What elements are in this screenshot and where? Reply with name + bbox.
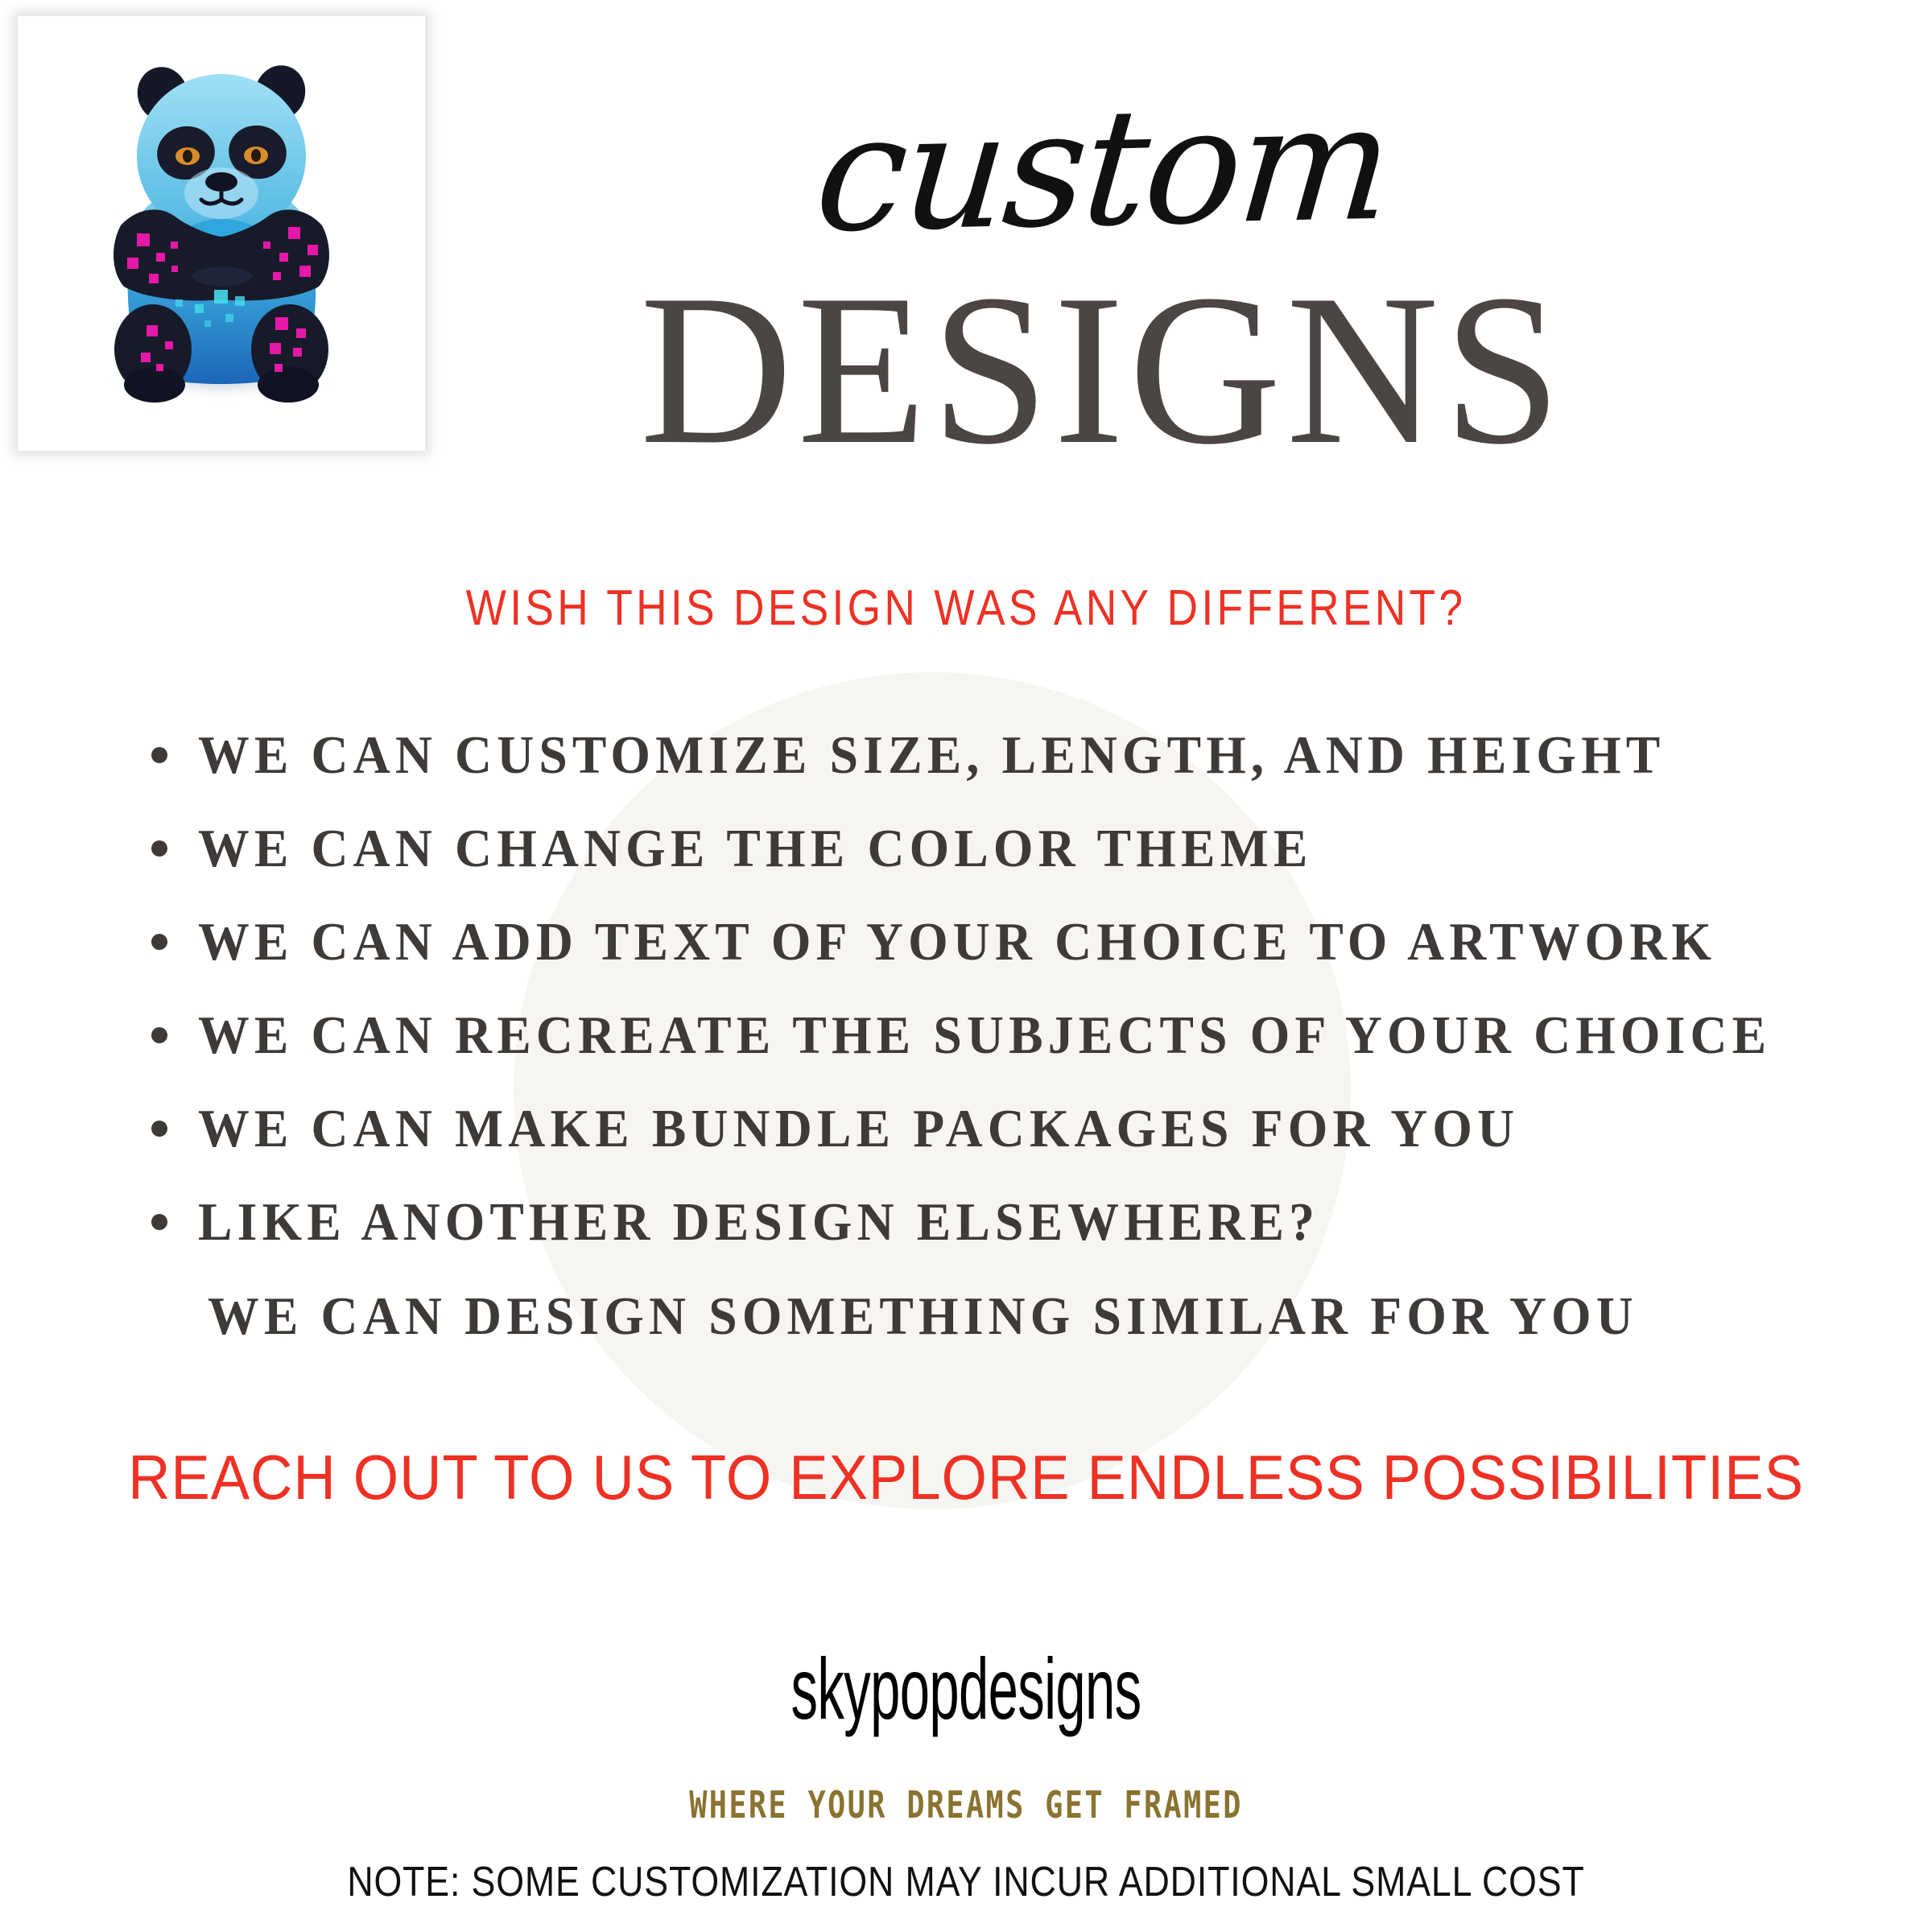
customization-options-list: WE CAN CUSTOMIZE SIZE, LENGTH, AND HEIGH… [151,708,1842,1269]
list-item: WE CAN CUSTOMIZE SIZE, LENGTH, AND HEIGH… [151,708,1842,802]
brand-tagline: WHERE YOUR DREAMS GET FRAMED [193,1783,1739,1827]
list-item-continuation-label: WE CAN DESIGN SOMETHING SIMILAR FOR YOU [208,1286,1638,1348]
script-word-custom: custom [412,74,1794,264]
bullet-dot-icon [151,1121,167,1137]
bullet-dot-icon [151,1027,167,1043]
page-title-designs: DESIGNS [432,267,1773,473]
brand-logo-text: skypopdesigns [367,1638,1565,1739]
footer-note: NOTE: SOME CUSTOMIZATION MAY INCUR ADDIT… [135,1858,1797,1906]
subtitle-question: WISH THIS DESIGN WAS ANY DIFFERENT? [135,580,1797,637]
bullet-dot-icon [151,934,167,950]
list-item: WE CAN MAKE BUNDLE PACKAGES FOR YOU [151,1082,1842,1175]
list-item: LIKE ANOTHER DESIGN ELSEWHERE? [151,1175,1842,1269]
panda-illustration-icon [34,34,409,433]
list-item-label: WE CAN ADD TEXT OF YOUR CHOICE TO ARTWOR… [198,911,1716,973]
list-item-label: WE CAN MAKE BUNDLE PACKAGES FOR YOU [198,1098,1519,1160]
bullet-dot-icon [151,1214,167,1230]
call-to-action-text: REACH OUT TO US TO EXPLORE ENDLESS POSSI… [68,1441,1864,1514]
list-item: WE CAN CHANGE THE COLOR THEME [151,802,1842,895]
bullet-dot-icon [151,840,167,857]
artwork-image [34,34,409,433]
list-item: WE CAN RECREATE THE SUBJECTS OF YOUR CHO… [151,989,1842,1082]
list-item: WE CAN ADD TEXT OF YOUR CHOICE TO ARTWOR… [151,895,1842,989]
list-item-label: WE CAN CHANGE THE COLOR THEME [198,818,1312,880]
headline-block: custom DESIGNS [419,89,1787,473]
artwork-frame [18,16,425,451]
list-item-label: LIKE ANOTHER DESIGN ELSEWHERE? [198,1191,1319,1253]
custom-designs-poster: custom DESIGNS WISH THIS DESIGN WAS ANY … [0,0,1932,1932]
list-item-label: WE CAN CUSTOMIZE SIZE, LENGTH, AND HEIGH… [198,724,1665,786]
bullet-dot-icon [151,747,167,763]
list-item-label: WE CAN RECREATE THE SUBJECTS OF YOUR CHO… [198,1005,1771,1067]
